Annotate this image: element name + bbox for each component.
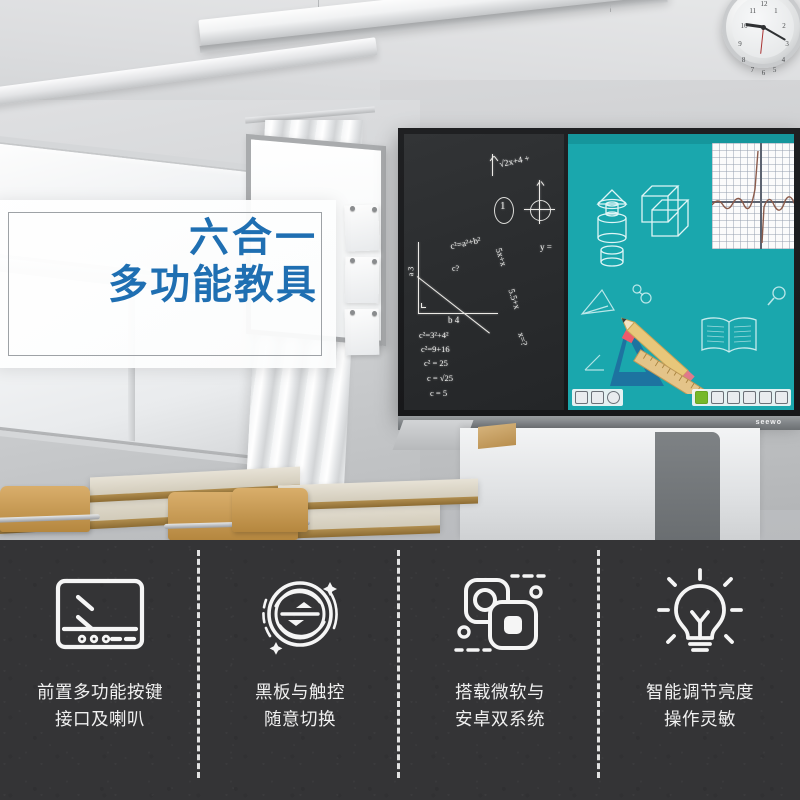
- clock-numeral: 6: [762, 69, 766, 77]
- chalk-y-equals: y =: [540, 242, 552, 252]
- paper-pin: [350, 310, 355, 315]
- chalk-right-angle: [421, 303, 422, 308]
- chalk-triangle-hypotenuse: [417, 276, 490, 334]
- clock-numeral: 12: [761, 0, 768, 8]
- chalk-step-4: c = √25: [427, 373, 453, 383]
- paper-pin: [350, 258, 355, 263]
- chalk-label-a: a 3: [406, 267, 415, 277]
- feature-label-line2: 随意切换: [255, 707, 345, 734]
- angle-doodle: [582, 352, 608, 374]
- chalk-radical-expression: √2x+4 +: [498, 153, 530, 169]
- pen-tool-icon[interactable]: [711, 391, 724, 404]
- chalkboard-panel[interactable]: a 3 b 4 c? c²=a²+b² c²=3²+4² c²=9+16 c² …: [404, 134, 564, 410]
- geometry-solids-illustration: [582, 166, 702, 276]
- user-icon[interactable]: [607, 391, 620, 404]
- feature-label-line1: 前置多功能按键: [37, 680, 163, 707]
- feature-label-line2: 接口及喇叭: [37, 707, 163, 734]
- menu-icon[interactable]: [575, 391, 588, 404]
- chalk-diagonal-note-2: 5.5+x: [506, 288, 522, 311]
- clock-second-hand: [760, 27, 764, 54]
- molecule-doodle: [628, 282, 654, 308]
- chalk-formula-pythagoras: c²=a²+b²: [449, 235, 481, 251]
- feature-label-line2: 安卓双系统: [455, 707, 545, 734]
- paper-pin: [350, 206, 355, 211]
- graph-curve: [712, 143, 794, 249]
- apps-icon[interactable]: [591, 391, 604, 404]
- chalk-step-3: c² = 25: [424, 358, 448, 368]
- chair-backrest: [232, 488, 308, 532]
- clock-numeral: 2: [782, 22, 786, 30]
- chalk-step-2: c²=9+16: [421, 344, 450, 354]
- dual-system-icon: [445, 562, 555, 666]
- feature-item-brightness: 智能调节亮度 操作灵敏: [600, 540, 800, 800]
- feature-item-switch-mode: 黑板与触控 随意切换: [200, 540, 400, 800]
- clock-numeral: 11: [749, 7, 756, 15]
- chalk-diagonal-note-1: 5x+x: [494, 247, 509, 268]
- clock-numeral: 4: [782, 56, 786, 64]
- feature-strip: 前置多功能按键 接口及喇叭: [0, 540, 800, 800]
- triangle-doodle: [578, 286, 620, 320]
- clock-center-pin: [761, 25, 766, 30]
- feature-item-front-panel: 前置多功能按键 接口及喇叭: [0, 540, 200, 800]
- brightness-bulb-icon: [645, 562, 755, 666]
- feature-item-dual-system: 搭载微软与 安卓双系统: [400, 540, 600, 800]
- feature-label: 智能调节亮度 操作灵敏: [646, 680, 754, 734]
- chalk-circle-stem: [539, 180, 540, 224]
- chalk-step-1: c²=3²+4²: [419, 330, 449, 340]
- front-panel-buttons-icon: [45, 562, 155, 666]
- chalk-label-b: b 4: [448, 315, 459, 325]
- feature-label-line1: 智能调节亮度: [646, 680, 754, 707]
- clock-numeral: 7: [751, 66, 755, 74]
- product-banner: 12 1 2 3 4 5 6 7 8 9 10 11: [0, 0, 800, 800]
- feature-label-line1: 搭载微软与: [455, 680, 545, 707]
- chalk-diagonal-note-3: x=?: [516, 331, 530, 347]
- chair-backrest: [0, 486, 90, 532]
- feature-label: 前置多功能按键 接口及喇叭: [37, 680, 163, 734]
- chalk-arrow-head: [541, 181, 545, 186]
- feature-label: 搭载微软与 安卓双系统: [455, 680, 545, 734]
- feature-label: 黑板与触控 随意切换: [255, 680, 345, 734]
- clock-numeral: 5: [773, 66, 777, 74]
- interactive-flat-panel[interactable]: a 3 b 4 c? c²=a²+b² c²=3²+4² c²=9+16 c² …: [398, 128, 800, 428]
- clock-numeral: 8: [742, 56, 746, 64]
- hero-title-panel: 六合一 多功能教具: [0, 200, 336, 368]
- shape-tool-icon[interactable]: [759, 391, 772, 404]
- eraser-tool-icon[interactable]: [743, 391, 756, 404]
- feature-label-line1: 黑板与触控: [255, 680, 345, 707]
- screen-tool-palette[interactable]: [692, 389, 791, 406]
- clock-face: 12 1 2 3 4 5 6 7 8 9 10 11: [732, 0, 794, 58]
- magnifier-doodle: [766, 284, 792, 310]
- function-graph-widget[interactable]: [712, 143, 794, 249]
- chalk-circle-number: 1: [500, 200, 506, 212]
- chalk-circle-symbol: [530, 200, 551, 221]
- screen-left-toolbar[interactable]: [572, 389, 623, 406]
- select-tool-icon[interactable]: [695, 391, 708, 404]
- hero-title: 六合一 多功能教具: [0, 216, 318, 308]
- clock-numeral: 1: [774, 7, 778, 15]
- chalk-step-5: c = 5: [430, 388, 447, 398]
- brand-logo: seewo: [756, 419, 782, 426]
- undo-tool-icon[interactable]: [775, 391, 788, 404]
- hero-title-line2: 多功能教具: [0, 263, 318, 308]
- paper-pin: [372, 207, 377, 212]
- interactive-whiteboard-screen[interactable]: [568, 134, 794, 410]
- chalk-label-c: c?: [452, 264, 459, 273]
- paper-pin: [372, 259, 377, 264]
- clock-numeral: 3: [785, 40, 789, 48]
- marker-tool-icon[interactable]: [727, 391, 740, 404]
- cabinet-side-panel: [655, 432, 720, 540]
- switch-mode-icon: [245, 562, 355, 666]
- hero-title-line1: 六合一: [0, 216, 318, 261]
- feature-label-line2: 操作灵敏: [646, 707, 754, 734]
- paper-pin: [372, 311, 377, 316]
- cardboard-box: [478, 423, 516, 449]
- clock-numeral: 9: [738, 40, 742, 48]
- stationery-illustration: [606, 316, 716, 394]
